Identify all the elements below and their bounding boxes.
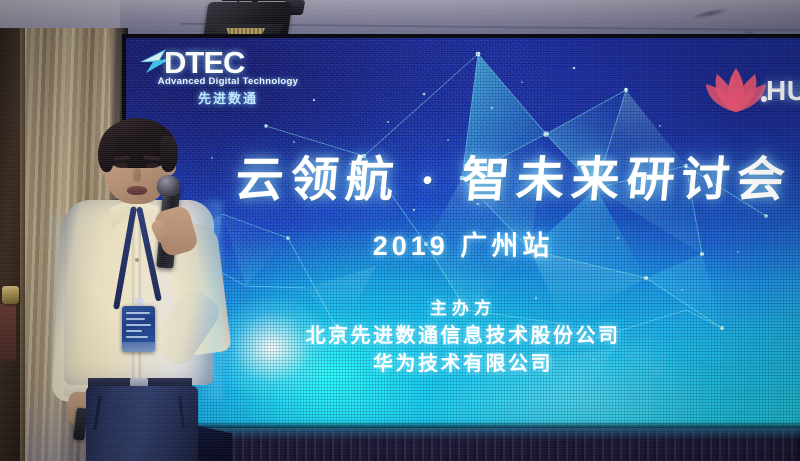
conference-photo-scene: DTEC Advanced Digital Technology 先进数通 — [0, 0, 800, 461]
badge-text-line — [126, 312, 150, 314]
badge-text-line — [126, 324, 151, 326]
speaker-hair-side-left — [98, 138, 114, 172]
speaker-rim-light-right — [192, 200, 222, 400]
speaker — [42, 120, 257, 461]
name-badge — [122, 306, 155, 352]
huawei-logo: HUA — [706, 68, 800, 114]
huawei-wordmark: HUA — [766, 75, 800, 107]
door-handle — [2, 286, 19, 304]
speaker-nose — [133, 168, 141, 182]
speaker-hair-side-right — [160, 136, 178, 172]
shirt-button — [135, 258, 139, 262]
door-plate — [0, 304, 16, 360]
wooden-door — [0, 28, 22, 461]
badge-text-line — [126, 318, 145, 320]
speaker-eye-left — [115, 163, 129, 168]
huawei-flower-icon — [706, 68, 766, 112]
door-frame-edge — [20, 28, 25, 461]
dtec-tagline: Advanced Digital Technology — [140, 76, 316, 87]
badge-text-line — [126, 336, 148, 338]
microphone-head — [156, 174, 181, 197]
speaker-mouth — [127, 186, 147, 195]
badge-footer — [122, 342, 155, 352]
dtec-chinese-name: 先进数通 — [140, 88, 316, 107]
event-title: 云领航 · 智未来研讨会 — [233, 140, 799, 210]
speaker-eye-right — [145, 163, 159, 168]
badge-text-line — [126, 330, 142, 332]
dtec-logo: DTEC Advanced Digital Technology 先进数通 — [134, 47, 314, 107]
